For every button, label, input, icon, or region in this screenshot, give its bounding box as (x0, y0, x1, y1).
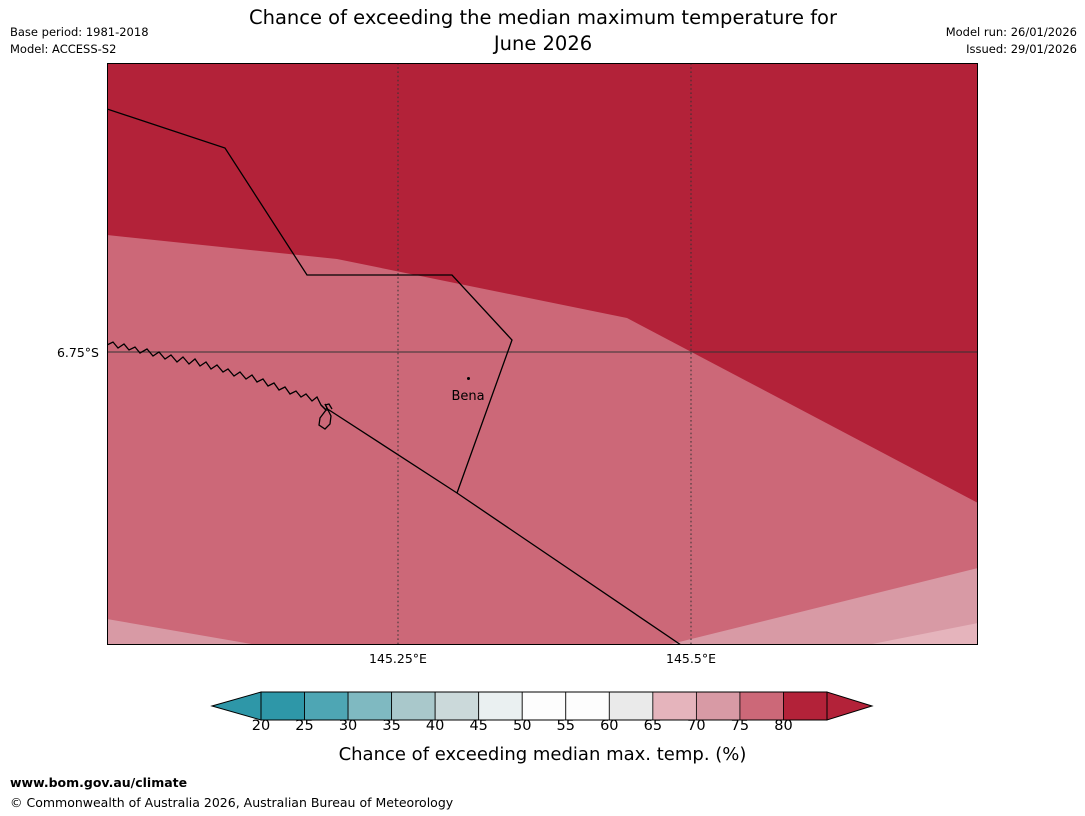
x-tick-label-145-25: 145.25°E (369, 651, 427, 666)
colorbar-tick-80: 80 (774, 718, 792, 734)
colorbar-swatch (348, 692, 392, 720)
colorbar-swatch (522, 692, 566, 720)
colorbar-over-arrow (827, 692, 872, 720)
colorbar-tick-65: 65 (644, 718, 662, 734)
map-plot-area[interactable] (107, 63, 978, 645)
colorbar-swatch (609, 692, 653, 720)
colorbar-tick-70: 70 (687, 718, 705, 734)
city-marker-bena (467, 377, 470, 380)
colorbar-swatch (479, 692, 523, 720)
footer-url: www.bom.gov.au/climate (10, 773, 453, 793)
colorbar-swatch (305, 692, 349, 720)
colorbar-swatch (783, 692, 827, 720)
colorbar-tick-20: 20 (252, 718, 270, 734)
colorbar-tick-45: 45 (469, 718, 487, 734)
colorbar-tick-75: 75 (731, 718, 749, 734)
header-right-meta: Model run: 26/01/2026 Issued: 29/01/2026 (946, 24, 1077, 58)
colorbar-tick-35: 35 (382, 718, 400, 734)
colorbar-tick-50: 50 (513, 718, 531, 734)
colorbar-tick-40: 40 (426, 718, 444, 734)
colorbar-swatch (392, 692, 436, 720)
colorbar-svg (0, 686, 1085, 732)
colorbar-tick-60: 60 (600, 718, 618, 734)
map-svg (107, 63, 978, 645)
footer-copyright: © Commonwealth of Australia 2026, Austra… (10, 793, 453, 813)
model-run-text: Model run: 26/01/2026 (946, 24, 1077, 41)
colorbar-tick-55: 55 (557, 718, 575, 734)
colorbar-under-arrow (212, 692, 261, 720)
colorbar-tick-25: 25 (295, 718, 313, 734)
colorbar[interactable] (0, 686, 1085, 732)
y-tick-label: 6.75°S (57, 345, 99, 360)
colorbar-swatch (435, 692, 479, 720)
colorbar-tick-30: 30 (339, 718, 357, 734)
colorbar-swatch (653, 692, 697, 720)
colorbar-swatch (261, 692, 305, 720)
colorbar-axis-label: Chance of exceeding median max. temp. (%… (0, 744, 1085, 765)
colorbar-swatch (566, 692, 610, 720)
colorbar-swatch (740, 692, 784, 720)
issued-text: Issued: 29/01/2026 (946, 41, 1077, 58)
x-tick-label-145-5: 145.5°E (666, 651, 716, 666)
colorbar-swatch (696, 692, 740, 720)
page-title: Chance of exceeding the median maximum t… (107, 5, 979, 57)
footer: www.bom.gov.au/climate © Commonwealth of… (10, 773, 453, 813)
city-label-bena: Bena (451, 389, 484, 404)
colorbar-swatch-group (261, 692, 827, 720)
